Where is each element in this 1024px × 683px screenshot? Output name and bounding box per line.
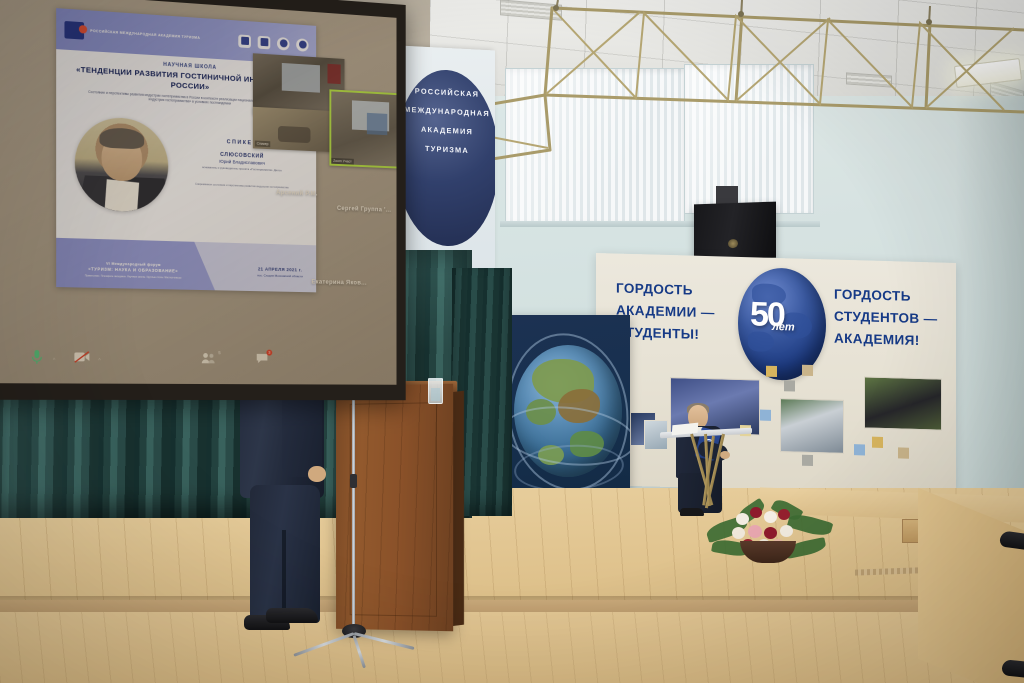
speaker-portrait bbox=[75, 116, 168, 213]
banner-photo-two-students bbox=[780, 398, 844, 454]
banner-photo-graduates bbox=[864, 376, 942, 430]
participant-name: Екатерина Яков... bbox=[311, 279, 366, 287]
mic-stand-joint bbox=[350, 474, 357, 488]
projection-surface: РОССИЙСКАЯ МЕЖДУНАРОДНАЯ АКАДЕМИЯ ТУРИЗМ… bbox=[0, 0, 397, 385]
banner-right-text: ГОРДОСТЬ СТУДЕНТОВ — АКАДЕМИЯ! bbox=[834, 284, 938, 352]
banner-line: СТУДЕНТЫ! bbox=[616, 321, 715, 346]
partner-logo-row bbox=[238, 34, 308, 51]
earth-globe-poster bbox=[508, 315, 630, 507]
banner-accent-square bbox=[766, 366, 777, 377]
chevron-up-icon[interactable]: ^ bbox=[95, 350, 103, 364]
zoom-toolbar[interactable]: ^ ^ 5 bbox=[23, 346, 350, 369]
academy-logo-icon bbox=[64, 20, 84, 39]
academy-logo-text: РОССИЙСКАЯ МЕЖДУНАРОДНАЯ АКАДЕМИЯ ТУРИЗМ… bbox=[90, 28, 200, 40]
chat-icon[interactable]: 3 bbox=[249, 349, 274, 367]
slide-date-block: 21 АПРЕЛЯ 2021 г. пос. Сходня Московской… bbox=[257, 266, 303, 278]
hand bbox=[308, 466, 326, 482]
banner-circle-text: РОССИЙСКАЯ МЕЖДУНАРОДНАЯ АКАДЕМИЯ ТУРИЗМ… bbox=[399, 81, 495, 162]
anniversary-number: 50 лет bbox=[750, 299, 818, 333]
speaker-mount-bracket bbox=[716, 186, 738, 204]
banner-line: ГОРДОСТЬ bbox=[834, 284, 938, 309]
flower-arrangement bbox=[706, 497, 830, 569]
lower-floor bbox=[0, 612, 1024, 683]
vertical-blinds bbox=[505, 68, 685, 223]
participant-name: Сергей Группа '... bbox=[337, 205, 391, 214]
slide-forum-block: VI Международный форум «ТУРИЗМ: НАУКА И … bbox=[64, 260, 201, 280]
loudspeaker bbox=[694, 202, 776, 261]
partner-logo-1-icon bbox=[238, 34, 251, 48]
banner-left-text: ГОРДОСТЬ АКАДЕМИИ — СТУДЕНТЫ! bbox=[616, 278, 715, 346]
banner-line: ГОРДОСТЬ bbox=[616, 278, 715, 303]
flower-bowl bbox=[740, 541, 796, 563]
banner-accent-square bbox=[784, 380, 795, 391]
vertical-blinds bbox=[684, 64, 814, 214]
partner-logo-2-icon bbox=[258, 35, 271, 49]
video-off-icon[interactable] bbox=[69, 348, 96, 367]
projection-screen: РОССИЙСКАЯ МЕЖДУНАРОДНАЯ АКАДЕМИЯ ТУРИЗМ… bbox=[0, 0, 406, 400]
banner-line: АКАДЕМИЯ! bbox=[834, 327, 938, 352]
forum-date: 21 АПРЕЛЯ 2021 г. bbox=[257, 266, 303, 272]
banner-accent-square bbox=[802, 455, 813, 466]
anniversary-suffix-text: лет bbox=[772, 322, 818, 333]
partner-logo-4-icon bbox=[296, 38, 308, 52]
shoe bbox=[266, 608, 318, 623]
banner-accent-square bbox=[872, 437, 883, 448]
water-glass bbox=[428, 378, 443, 404]
anniversary-banner: ГОРДОСТЬ АКАДЕМИИ — СТУДЕНТЫ! ГОРДОСТЬ С… bbox=[596, 253, 956, 495]
participants-icon[interactable]: 5 bbox=[196, 349, 222, 367]
chevron-up-icon[interactable]: ^ bbox=[50, 350, 58, 364]
microphone-icon[interactable] bbox=[23, 347, 50, 366]
chat-unread-badge: 3 bbox=[266, 350, 272, 356]
banner-line: АКАДЕМИИ — bbox=[616, 299, 715, 324]
video-thumb-label: Спикер bbox=[255, 141, 271, 148]
banner-line: СТУДЕНТОВ — bbox=[834, 305, 938, 330]
banner-accent-square bbox=[760, 410, 771, 421]
video-thumb-label: Zoom Участ bbox=[331, 158, 353, 165]
conference-hall-photo: РОССИЙСКАЯ МЕЖДУНАРОДНАЯ АКАДЕМИЯ ТУРИЗМ… bbox=[0, 0, 1024, 683]
partner-logo-3-icon bbox=[277, 37, 289, 51]
banner-accent-square bbox=[854, 444, 865, 455]
presentation-slide: РОССИЙСКАЯ МЕЖДУНАРОДНАЯ АКАДЕМИЯ ТУРИЗМ… bbox=[56, 8, 316, 292]
participants-count: 5 bbox=[218, 350, 221, 355]
shoe bbox=[680, 508, 704, 516]
academy-circle-banner: РОССИЙСКАЯ МЕЖДУНАРОДНАЯ АКАДЕМИЯ ТУРИЗМ… bbox=[399, 45, 495, 272]
banner-accent-square bbox=[802, 365, 813, 376]
banner-accent-square bbox=[898, 447, 909, 458]
hand bbox=[720, 451, 730, 459]
video-thumbnail-active[interactable]: Zoom Участ bbox=[329, 89, 396, 169]
